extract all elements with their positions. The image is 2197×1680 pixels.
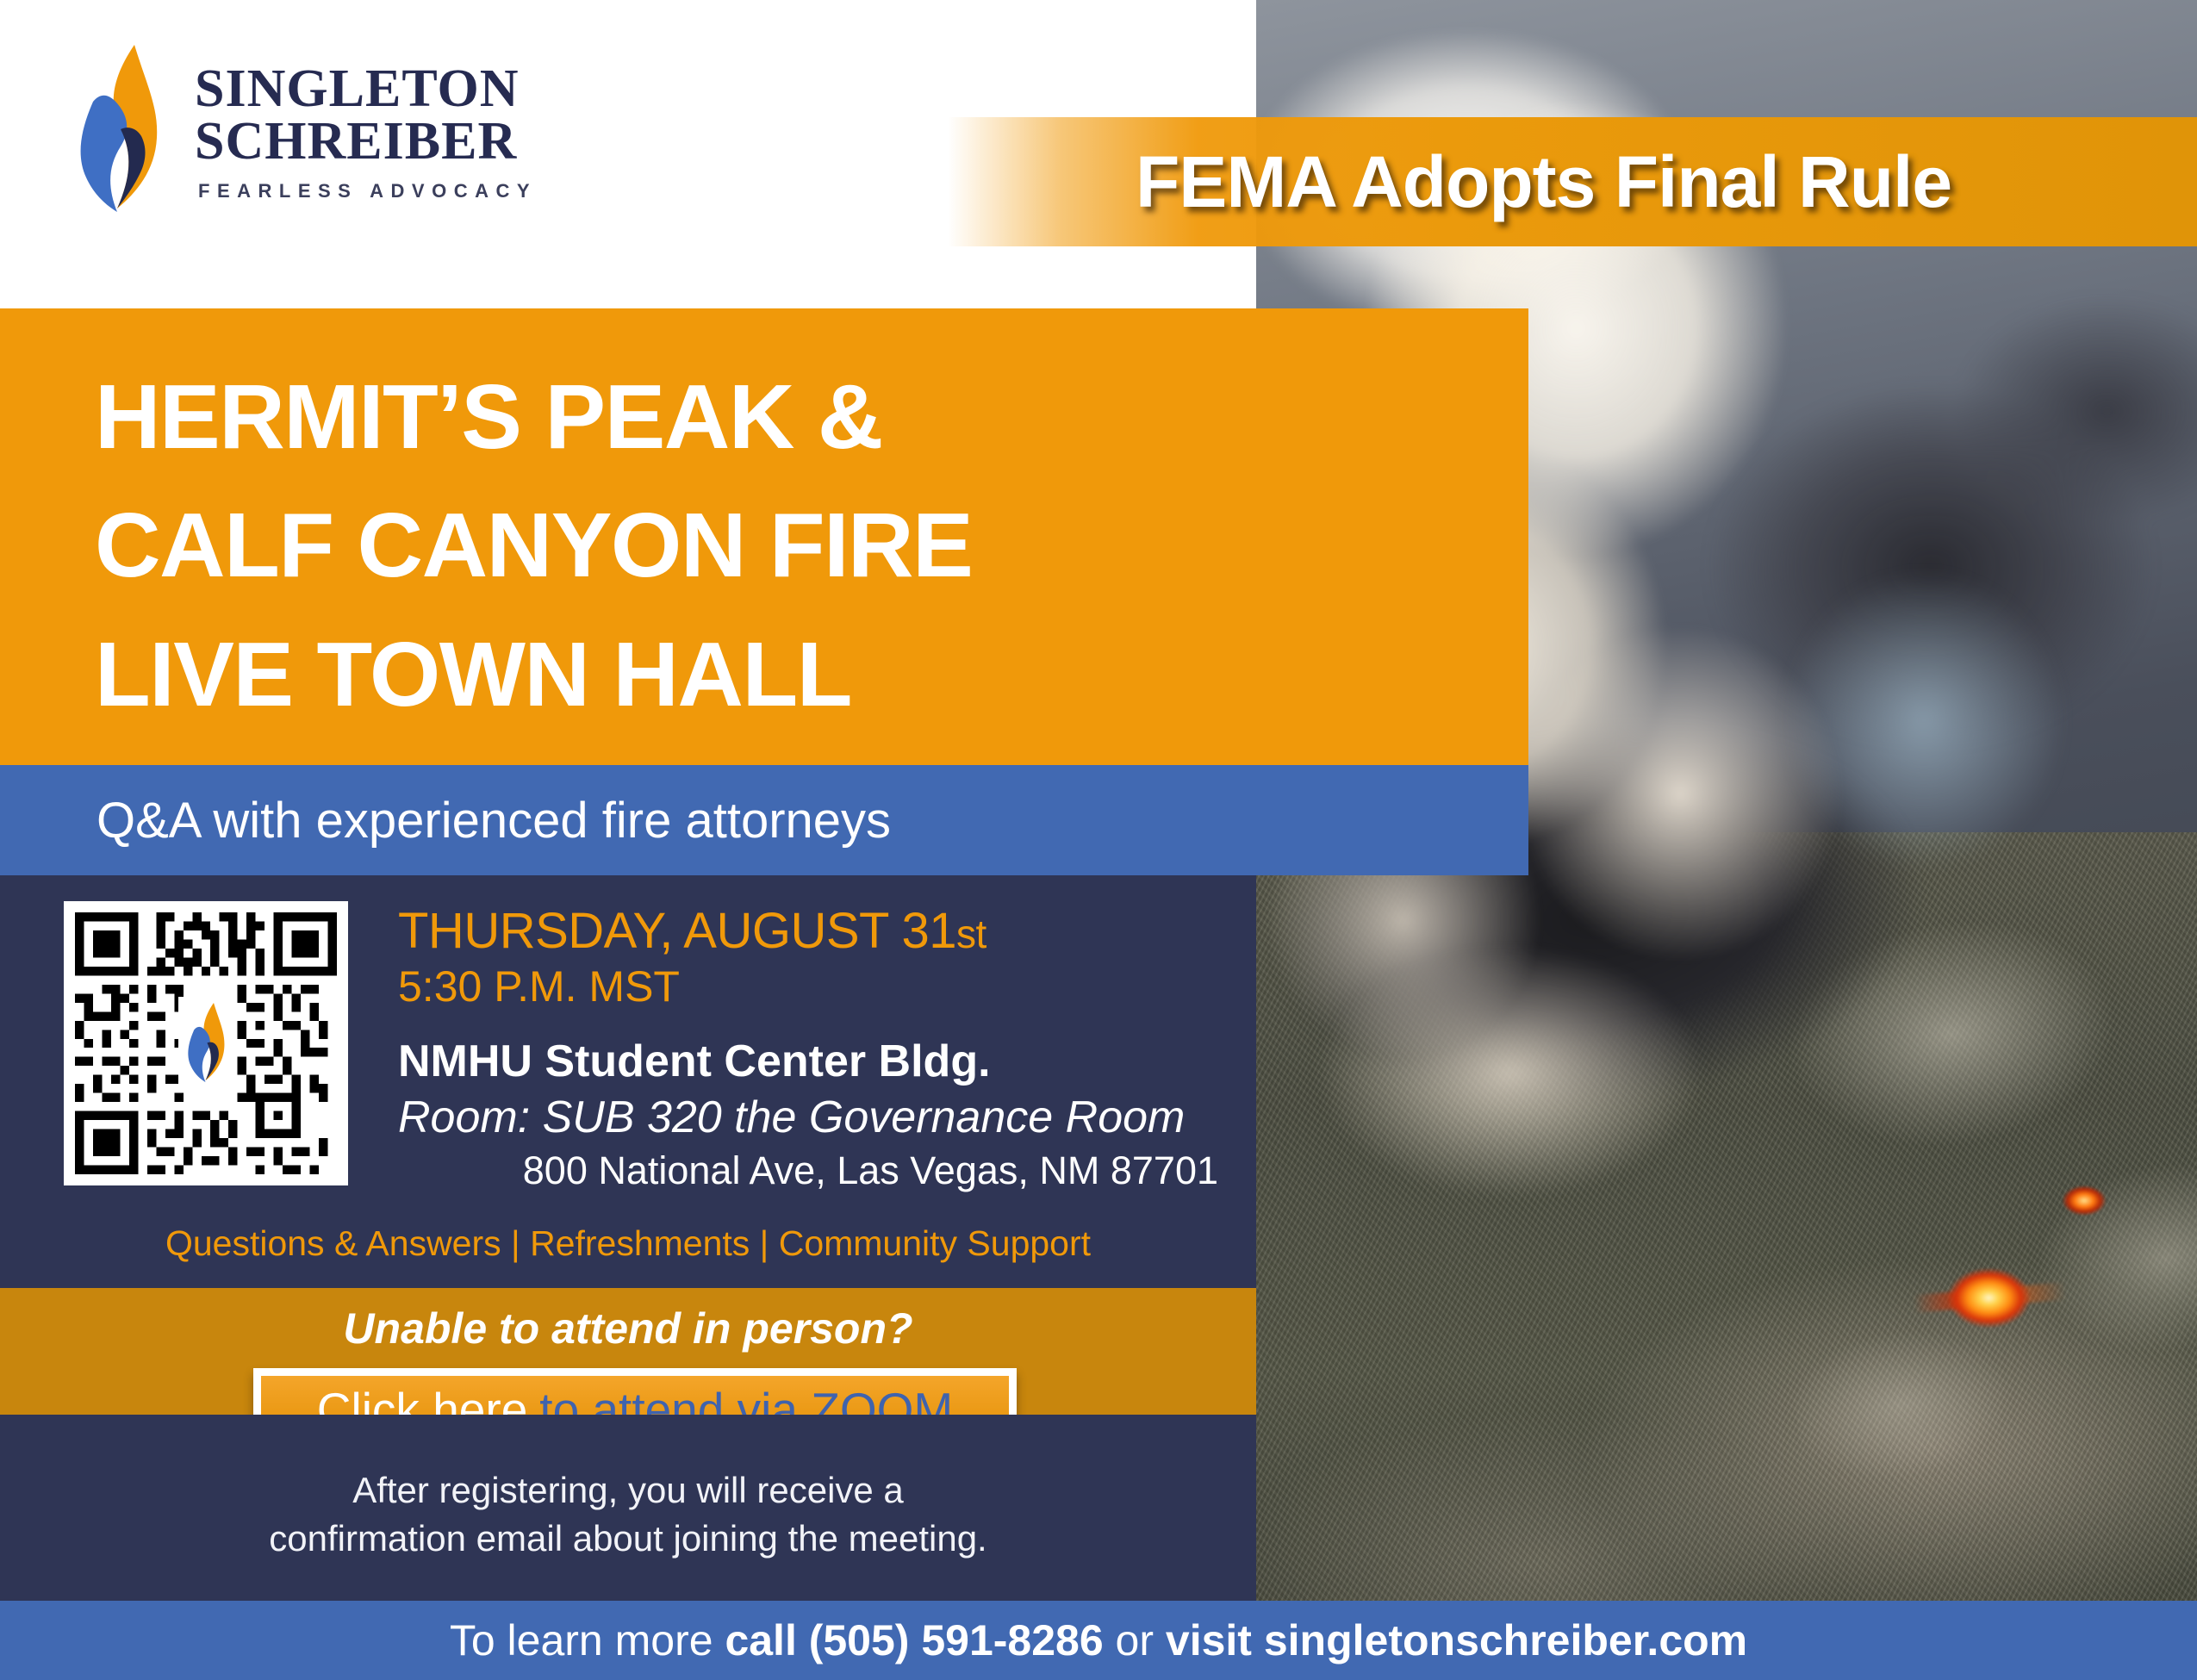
headline-line-1: HERMIT’S PEAK & bbox=[95, 353, 1528, 482]
qr-center-flame-icon bbox=[178, 997, 233, 1090]
brand-tagline: FEARLESS ADVOCACY bbox=[198, 180, 537, 202]
footer-bar: To learn more call (505) 591‑8286 or vis… bbox=[0, 1601, 2197, 1680]
qr-code[interactable] bbox=[64, 901, 348, 1185]
brand-logo[interactable]: SINGLETON SCHREIBER FEARLESS ADVOCACY bbox=[67, 40, 537, 221]
header-band: SINGLETON SCHREIBER FEARLESS ADVOCACY bbox=[0, 0, 944, 284]
event-time: 5:30 P.M. MST bbox=[398, 961, 1225, 1013]
registration-note: After registering, you will receive a co… bbox=[0, 1466, 1256, 1564]
registration-note-band: After registering, you will receive a co… bbox=[0, 1415, 1256, 1601]
event-details-panel: THURSDAY, AUGUST 31st 5:30 P.M. MST NMHU… bbox=[0, 875, 1256, 1288]
flyer-root: SINGLETON SCHREIBER FEARLESS ADVOCACY FE… bbox=[0, 0, 2197, 1680]
headline-line-2: CALF CANYON FIRE bbox=[95, 482, 1528, 610]
headline-line-3: LIVE TOWN HALL bbox=[95, 611, 1528, 739]
headline-block: HERMIT’S PEAK & CALF CANYON FIRE LIVE TO… bbox=[0, 308, 1528, 765]
fema-banner: FEMA Adopts Final Rule bbox=[948, 117, 2197, 246]
virtual-attend-prompt: Unable to attend in person? bbox=[0, 1304, 1256, 1353]
event-address: 800 National Ave, Las Vegas, NM 87701 bbox=[398, 1149, 1225, 1192]
footer-contact: To learn more call (505) 591‑8286 or vis… bbox=[450, 1615, 1747, 1665]
brand-wordmark: SINGLETON SCHREIBER FEARLESS ADVOCACY bbox=[195, 58, 537, 202]
registration-note-line2: confirmation email about joining the mee… bbox=[0, 1515, 1256, 1563]
footer-website[interactable]: visit singletonschreiber.com bbox=[1166, 1616, 1747, 1664]
event-date: THURSDAY, AUGUST 31st bbox=[398, 905, 1225, 959]
qr-code-matrix bbox=[75, 912, 337, 1174]
event-amenities: Questions & Answers | Refreshments | Com… bbox=[0, 1223, 1256, 1264]
footer-mid: or bbox=[1104, 1616, 1166, 1664]
event-date-main: THURSDAY, AUGUST 31 bbox=[398, 903, 956, 959]
event-date-ordinal: st bbox=[956, 912, 986, 956]
event-venue: NMHU Student Center Bldg. bbox=[398, 1037, 1225, 1086]
brand-name-line2: SCHREIBER bbox=[195, 115, 537, 168]
brand-name-line1: SINGLETON bbox=[195, 63, 537, 115]
event-room: Room: SUB 320 the Governance Room bbox=[398, 1093, 1225, 1142]
registration-note-line1: After registering, you will receive a bbox=[0, 1466, 1256, 1515]
photo-flame-spot bbox=[2061, 1185, 2108, 1216]
event-details-text: THURSDAY, AUGUST 31st 5:30 P.M. MST NMHU… bbox=[398, 905, 1225, 1192]
footer-phone[interactable]: call (505) 591‑8286 bbox=[725, 1616, 1103, 1664]
fema-banner-text: FEMA Adopts Final Rule bbox=[1136, 140, 1951, 224]
photo-flame-front bbox=[1948, 1265, 2038, 1328]
subtitle-bar: Q&A with experienced fire attorneys bbox=[0, 765, 1528, 875]
subtitle-text: Q&A with experienced fire attorneys bbox=[96, 792, 891, 849]
photo-smoke-plume-lower bbox=[1256, 896, 1820, 1280]
flame-logo-icon bbox=[67, 40, 169, 221]
footer-lead: To learn more bbox=[450, 1616, 725, 1664]
